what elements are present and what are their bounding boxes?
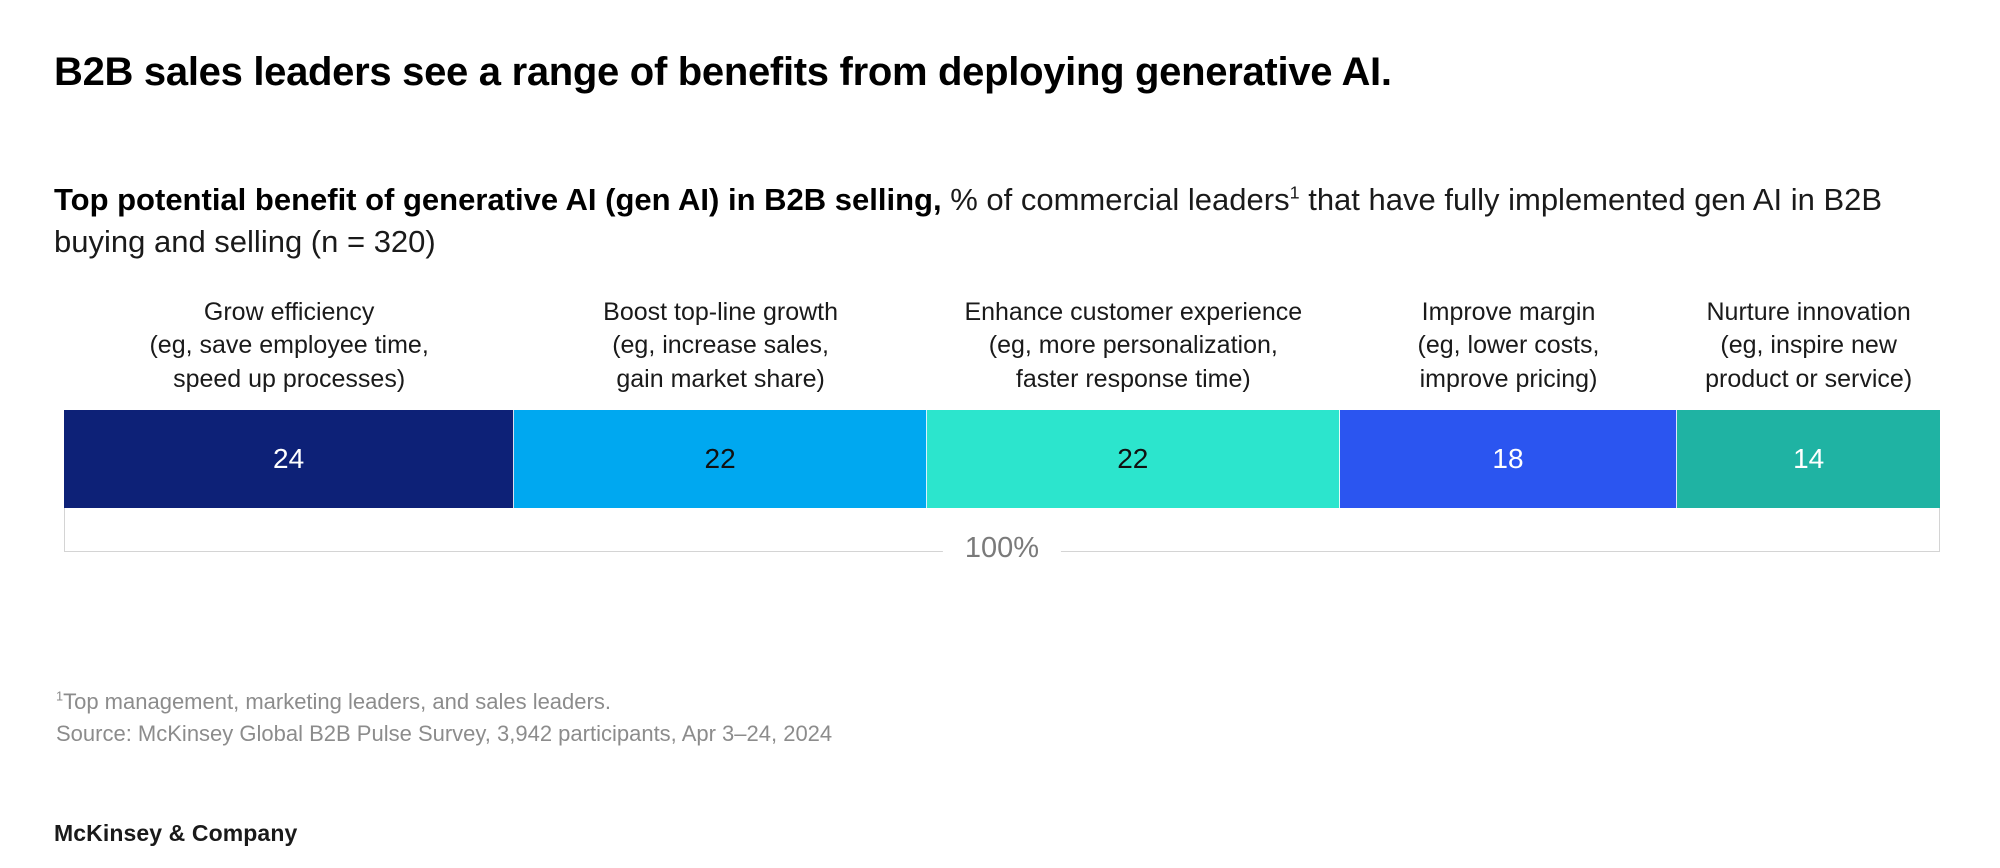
- chart-subtitle-lead: Top potential benefit of generative AI (…: [54, 182, 942, 217]
- stacked-bar-chart: Grow efficiency (eg, save employee time,…: [64, 296, 1940, 572]
- page-title: B2B sales leaders see a range of benefit…: [54, 49, 1934, 96]
- segment-label-line1: Boost top-line growth: [518, 296, 923, 329]
- segment-label-line2: (eg, lower costs,: [1344, 329, 1674, 362]
- subtitle-footnote-marker: 1: [1290, 183, 1300, 203]
- segment-label-line2: (eg, inspire new: [1681, 329, 1936, 362]
- segment-label-line3: improve pricing): [1344, 363, 1674, 396]
- total-axis: 100%: [64, 508, 1940, 572]
- segment-label-line1: Enhance customer experience: [931, 296, 1336, 329]
- segment-label-improve-margin: Improve margin (eg, lower costs, improve…: [1340, 296, 1678, 396]
- segment-label-line2: (eg, save employee time,: [68, 329, 510, 362]
- segment-label-row: Grow efficiency (eg, save employee time,…: [64, 296, 1940, 396]
- bar-segment-improve-margin[interactable]: 18: [1340, 410, 1678, 508]
- chart-subtitle: Top potential benefit of generative AI (…: [54, 179, 1914, 262]
- segment-label-nurture-innovation: Nurture innovation (eg, inspire new prod…: [1677, 296, 1940, 396]
- segment-label-grow-efficiency: Grow efficiency (eg, save employee time,…: [64, 296, 514, 396]
- segment-label-boost-top-line-growth: Boost top-line growth (eg, increase sale…: [514, 296, 927, 396]
- segment-label-line3: speed up processes): [68, 363, 510, 396]
- chart-subtitle-unit: % of commercial leaders: [942, 182, 1290, 217]
- bar-segment-value: 22: [1117, 443, 1148, 475]
- segment-label-line1: Grow efficiency: [68, 296, 510, 329]
- total-axis-label: 100%: [943, 532, 1061, 565]
- mckinsey-wordmark: McKinsey & Company: [54, 820, 297, 847]
- bar-segment-value: 14: [1793, 443, 1824, 475]
- segment-label-enhance-customer-experience: Enhance customer experience (eg, more pe…: [927, 296, 1340, 396]
- infographic-page: B2B sales leaders see a range of benefit…: [0, 0, 2000, 868]
- footnotes: 1Top management, marketing leaders, and …: [56, 686, 1556, 749]
- segment-label-line2: (eg, increase sales,: [518, 329, 923, 362]
- bar-segment-value: 18: [1492, 443, 1523, 475]
- segment-label-line3: gain market share): [518, 363, 923, 396]
- footnote-note: 1Top management, marketing leaders, and …: [56, 686, 1556, 718]
- bar-segment-value: 22: [705, 443, 736, 475]
- bar-segment-nurture-innovation[interactable]: 14: [1677, 410, 1940, 508]
- segment-label-line1: Nurture innovation: [1681, 296, 1936, 329]
- footnote-note-text: Top management, marketing leaders, and s…: [63, 689, 611, 714]
- segment-label-line3: faster response time): [931, 363, 1336, 396]
- bar-segment-value: 24: [273, 443, 304, 475]
- segment-label-line1: Improve margin: [1344, 296, 1674, 329]
- segment-label-line2: (eg, more personalization,: [931, 329, 1336, 362]
- bar-segment-enhance-customer-experience[interactable]: 22: [927, 410, 1340, 508]
- bar-segment-grow-efficiency[interactable]: 24: [64, 410, 514, 508]
- segment-label-line3: product or service): [1681, 363, 1936, 396]
- stacked-bar: 24 22 22 18 14: [64, 410, 1940, 508]
- bar-segment-boost-top-line-growth[interactable]: 22: [514, 410, 927, 508]
- footnote-source: Source: McKinsey Global B2B Pulse Survey…: [56, 718, 1556, 750]
